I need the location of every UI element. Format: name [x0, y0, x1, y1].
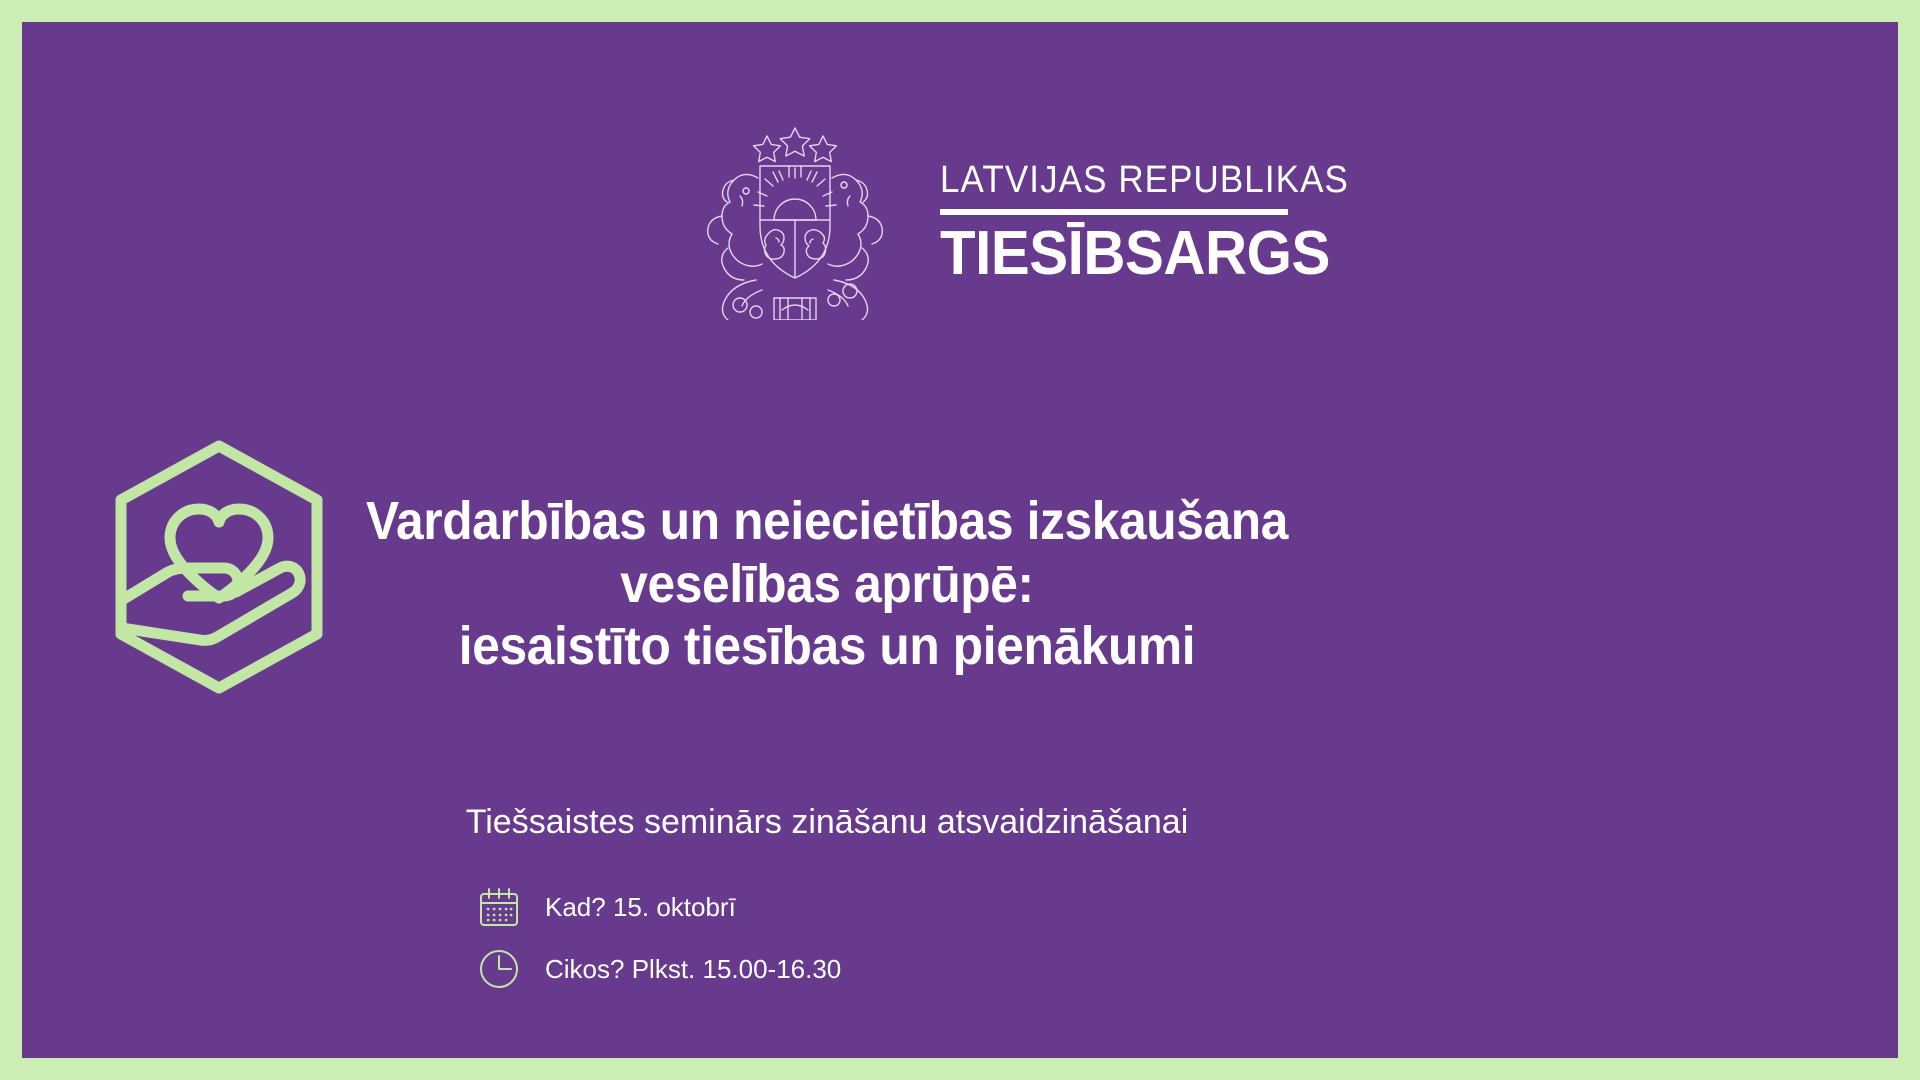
slide-canvas: LATVIJAS REPUBLIKAS TIESĪBSARGS Vardarbī…: [22, 22, 1898, 1058]
logo-divider-rule: [940, 209, 1288, 215]
organisation-logo: LATVIJAS REPUBLIKAS TIESĪBSARGS: [670, 120, 1300, 320]
page-subtitle: Tiešsaistes seminārs zināšanu atsvaidzin…: [322, 802, 1332, 843]
event-date-text: Kad? 15. oktobrī: [545, 894, 736, 920]
slide-frame: LATVIJAS REPUBLIKAS TIESĪBSARGS Vardarbī…: [0, 0, 1920, 1080]
heart-in-hand-hexagon-icon: [84, 432, 354, 702]
page-title-line-3: iesaistīto tiesības un pienākumi: [362, 615, 1291, 678]
event-details-list: Kad? 15. oktobrī Cikos? Plkst. 15.00-16.…: [477, 884, 841, 992]
latvian-coat-of-arms-icon: [670, 120, 920, 320]
page-title-line-2: veselības aprūpē:: [362, 553, 1291, 616]
calendar-icon: [477, 885, 521, 929]
logo-wordmark: LATVIJAS REPUBLIKAS TIESĪBSARGS: [940, 155, 1384, 285]
page-title-line-1: Vardarbības un neiecietības izskaušana: [362, 490, 1291, 553]
page-title: Vardarbības un neiecietības izskaušana v…: [362, 490, 1291, 678]
event-time-text: Cikos? Plkst. 15.00-16.30: [545, 956, 841, 982]
event-detail-time: Cikos? Plkst. 15.00-16.30: [477, 946, 841, 992]
event-detail-date: Kad? 15. oktobrī: [477, 884, 841, 930]
logo-line-ombudsman: TIESĪBSARGS: [940, 223, 1358, 285]
clock-icon: [477, 947, 521, 991]
logo-line-republic: LATVIJAS REPUBLIKAS: [940, 161, 1349, 199]
